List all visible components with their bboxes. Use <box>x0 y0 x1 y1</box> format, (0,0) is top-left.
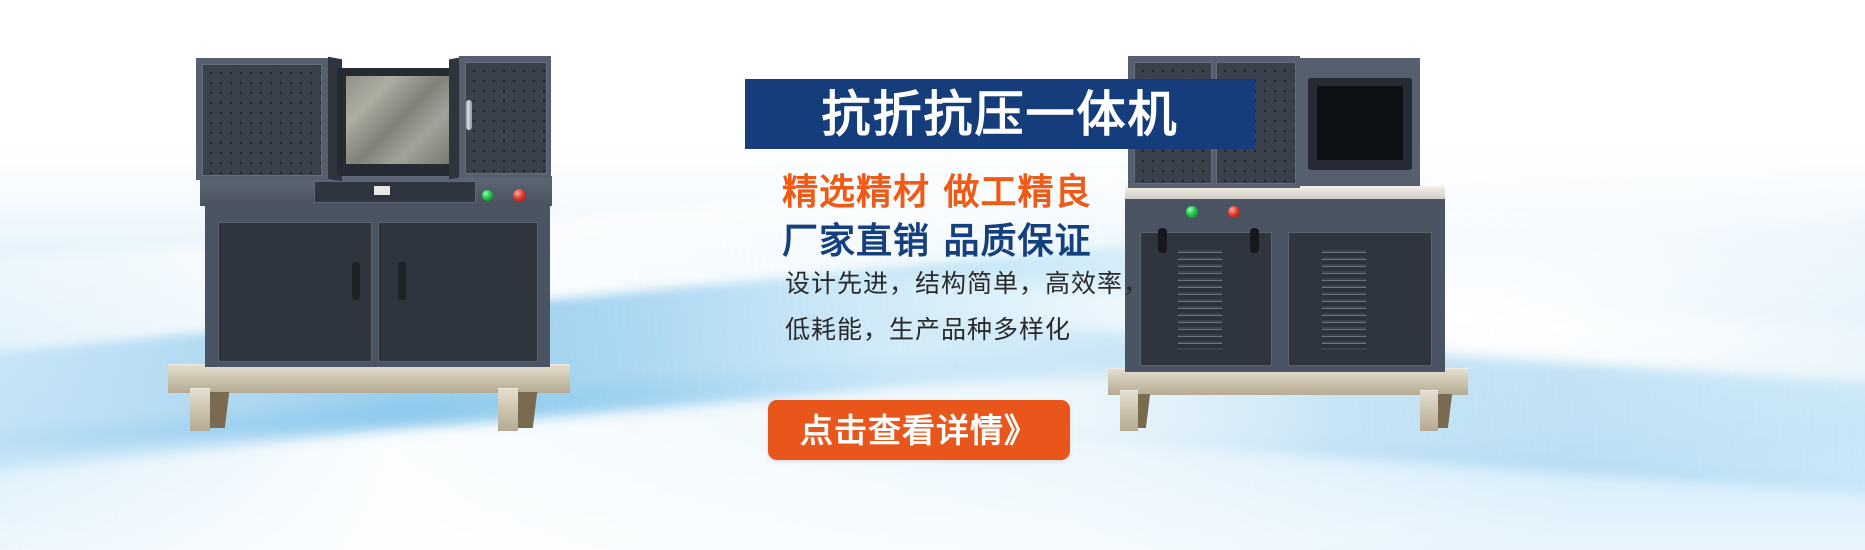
led-green-left <box>482 190 493 201</box>
view-details-button-label: 点击查看详情》 <box>800 414 1038 447</box>
led-red-left <box>513 189 526 202</box>
pallet-right-support-1 <box>1120 390 1138 431</box>
control-panel-left <box>314 181 476 203</box>
led-green-right <box>1186 206 1198 218</box>
screen-base-left <box>337 172 461 180</box>
vent-louver-right-2 <box>1322 250 1366 350</box>
screen-glass-left <box>346 76 452 164</box>
subtitle-blue: 厂家直销 品质保证 <box>782 212 1092 264</box>
banner-title-box: 抗折抗压一体机 <box>745 79 1255 149</box>
perforated-door-left-2 <box>465 62 547 174</box>
description-line-2: 低耗能，生产品种多样化 <box>785 310 1071 346</box>
handle-left-lower-1 <box>352 262 360 300</box>
control-display-left <box>374 186 390 195</box>
handle-left-upper-2 <box>466 100 472 130</box>
subtitle-orange: 精选精材 做工精良 <box>782 163 1092 215</box>
description-line-1: 设计先进，结构简单，高效率， <box>785 264 1149 300</box>
handle-left-lower-2 <box>398 262 406 300</box>
handle-right-lower-1 <box>1158 228 1167 253</box>
view-details-button[interactable]: 点击查看详情》 <box>768 400 1070 460</box>
pallet-left-support-2 <box>498 388 518 431</box>
pallet-right-top <box>1108 368 1468 395</box>
handle-right-lower-2 <box>1250 228 1259 253</box>
door-left-lower-1 <box>218 222 372 362</box>
page-title: 抗折抗压一体机 <box>821 90 1178 139</box>
pallet-left-support-1 <box>190 388 210 431</box>
vent-louver-right-1 <box>1178 250 1222 350</box>
promo-banner: 抗折抗压一体机 精选精材 做工精良 厂家直销 品质保证 设计先进，结构简单，高效… <box>0 0 1865 550</box>
perforated-door-left-1 <box>202 64 322 176</box>
screen-glass-right <box>1317 86 1403 160</box>
led-red-right <box>1228 206 1240 218</box>
pallet-right-support-2 <box>1420 390 1438 431</box>
